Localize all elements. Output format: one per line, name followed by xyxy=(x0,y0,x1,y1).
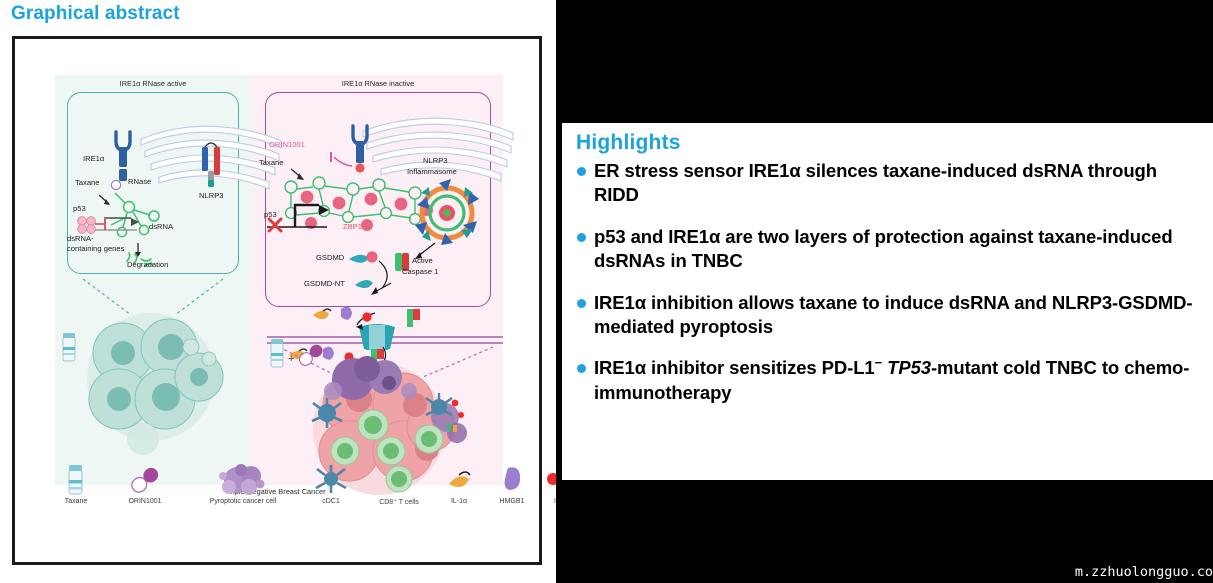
highlight-text: IRE1α inhibition allows taxane to induce… xyxy=(594,291,1199,340)
legend-item-pyroptotic-cell: Pyroptotic cancer cell xyxy=(179,462,307,505)
label-gsdmd-nt: GSDMD-NT xyxy=(304,280,345,289)
watermark: m.zzhuolongguo.co xyxy=(1075,564,1213,580)
label-gsdmd: GSDMD xyxy=(316,254,344,263)
bullet-icon xyxy=(574,159,594,208)
label-inflammasome: Inflammasome xyxy=(407,168,457,177)
highlights-column: Highlights ER stress sensor IRE1α silenc… xyxy=(556,0,1213,583)
pyroptotic-cell-icon xyxy=(179,462,307,496)
bullet-icon xyxy=(574,291,594,340)
t-cell-icon xyxy=(357,462,441,496)
dendritic-cell-icon xyxy=(301,462,361,496)
graphical-abstract-figure: IRE1α RNase active IRE1α RNase inactive xyxy=(12,36,542,565)
highlights-title: Highlights xyxy=(576,131,1199,155)
highlight-item: ER stress sensor IRE1α silences taxane-i… xyxy=(574,159,1199,208)
graphical-abstract-column: Graphical abstract IRE1α RNase active IR… xyxy=(0,0,556,583)
label-orin1001: ORIN1001 xyxy=(269,141,305,150)
label-zbp1: ZBP1 xyxy=(343,223,362,232)
label-p53-right: p53 xyxy=(264,211,277,220)
label-caspase-2: Caspase 1 xyxy=(402,268,438,277)
label-caspase-1: Active xyxy=(412,257,433,266)
legend-label: cDC1 xyxy=(301,498,361,505)
legend-label: Pyroptotic cancer cell xyxy=(179,498,307,505)
highlight-item: IRE1α inhibitor sensitizes PD-L1− TP53-m… xyxy=(574,356,1199,405)
bullet-icon xyxy=(574,225,594,274)
legend-item-hmgb1: HMGB1 xyxy=(481,462,543,505)
legend-label: CD8⁺ T cells xyxy=(357,498,441,506)
highlight-text: IRE1α inhibitor sensitizes PD-L1− TP53-m… xyxy=(594,356,1199,405)
label-taxane-right: Taxane xyxy=(259,159,284,168)
legend-item-taxane: Taxane xyxy=(41,462,111,505)
figure-legend: Taxane ORIN1001 xyxy=(31,462,529,540)
page-title: Graphical abstract xyxy=(11,3,180,25)
legend-label: Taxane xyxy=(41,498,111,505)
legend-label: ORIN1001 xyxy=(109,498,181,505)
bullet-icon xyxy=(574,356,594,405)
figure-canvas: IRE1α RNase active IRE1α RNase inactive xyxy=(23,47,531,554)
highlights-card: Highlights ER stress sensor IRE1α silenc… xyxy=(562,123,1213,480)
legend-item-orin1001: ORIN1001 xyxy=(109,462,181,505)
label-nlrp3-1: NLRP3 xyxy=(423,157,447,166)
legend-item-il1a: IL-1α xyxy=(431,462,487,505)
legend-item-cd8-t-cells: CD8⁺ T cells xyxy=(357,462,441,506)
il1a-icon xyxy=(431,462,487,496)
svg-text:+: + xyxy=(288,353,294,365)
highlight-item: IRE1α inhibition allows taxane to induce… xyxy=(574,291,1199,340)
legend-label: HMGB1 xyxy=(481,498,543,505)
highlight-text: ER stress sensor IRE1α silences taxane-i… xyxy=(594,159,1199,208)
legend-item-cdc1: cDC1 xyxy=(301,462,361,505)
highlight-text: p53 and IRE1α are two layers of protecti… xyxy=(594,225,1199,274)
legend-label: IL-1α xyxy=(431,498,487,505)
vial-icon xyxy=(41,462,111,496)
highlight-item: p53 and IRE1α are two layers of protecti… xyxy=(574,225,1199,274)
capsule-icon xyxy=(109,462,181,496)
hmgb1-icon xyxy=(481,462,543,496)
